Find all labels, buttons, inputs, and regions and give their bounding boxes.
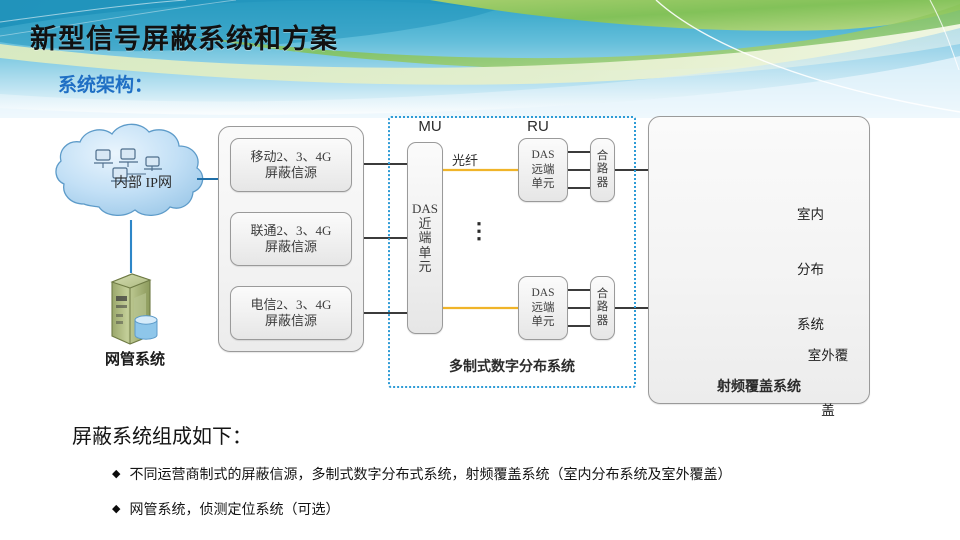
ru-remote-unit-1[interactable]: DAS 远端 单元 xyxy=(518,138,568,202)
mu-title: MU xyxy=(400,118,460,135)
ru1-line1: DAS xyxy=(531,148,554,162)
source-box-telecom[interactable]: 电信2、3、4G 屏蔽信源 xyxy=(230,286,352,340)
ru1-line3: 单元 xyxy=(532,177,555,191)
das-system-caption: 多制式数字分布系统 xyxy=(388,356,636,376)
mu-v2: 端 xyxy=(418,231,431,245)
summary-section: 屏蔽系统组成如下： ◆ 不同运营商制式的屏蔽信源，多制式数字分布式系统，射频覆盖… xyxy=(0,412,960,540)
internal-ip-cloud-shape xyxy=(56,124,203,215)
source-unicom-line2: 屏蔽信源 xyxy=(265,239,317,255)
nms-server-shape xyxy=(112,274,157,344)
source-telecom-line2: 屏蔽信源 xyxy=(265,313,317,329)
rf-coverage-caption: 射频覆盖系统 xyxy=(648,376,870,396)
combiner1-c1: 合 xyxy=(597,150,609,163)
ru2-line2: 远端 xyxy=(532,301,555,315)
outdoor-label-line1: 室外覆 xyxy=(797,347,859,365)
source-box-mobile[interactable]: 移动2、3、4G 屏蔽信源 xyxy=(230,138,352,192)
ru-title: RU xyxy=(508,118,568,135)
server-label: 网管系统 xyxy=(80,348,190,369)
summary-bullet-2-text: 网管系统，侦测定位系统（可选） xyxy=(129,499,339,519)
cloud-label: 内部 IP网 xyxy=(88,172,198,192)
indoor-label-line1: 室内 xyxy=(797,206,824,224)
mu-v4: 元 xyxy=(418,260,431,274)
ru2-line3: 单元 xyxy=(532,315,555,329)
summary-bullet-1-text: 不同运营商制式的屏蔽信源，多制式数字分布式系统，射频覆盖系统（室内分布系统及室外… xyxy=(129,464,731,484)
vertical-ellipsis: ⋮ xyxy=(468,220,490,242)
diamond-bullet-icon: ◆ xyxy=(112,504,120,515)
mu-near-end-unit[interactable]: DAS 近 端 单 元 xyxy=(407,142,443,334)
combiner1-c3: 器 xyxy=(597,177,609,190)
mu-v3: 单 xyxy=(418,246,431,260)
summary-bullet-2: ◆ 网管系统，侦测定位系统（可选） xyxy=(112,499,339,519)
summary-heading: 屏蔽系统组成如下： xyxy=(72,420,252,449)
section-subtitle: 系统架构： xyxy=(58,70,153,97)
header-decoration: 新型信号屏蔽系统和方案 系统架构： xyxy=(0,0,960,118)
combiner2-c2: 路 xyxy=(597,301,609,314)
ru2-line1: DAS xyxy=(531,286,554,300)
slide-root: 新型信号屏蔽系统和方案 系统架构： xyxy=(0,0,960,540)
indoor-label-line2: 分布 xyxy=(797,261,824,279)
source-box-unicom[interactable]: 联通2、3、4G 屏蔽信源 xyxy=(230,212,352,266)
ru1-line2: 远端 xyxy=(532,163,555,177)
diamond-bullet-icon: ◆ xyxy=(112,469,120,480)
source-unicom-line1: 联通2、3、4G xyxy=(251,223,332,239)
page-title: 新型信号屏蔽系统和方案 xyxy=(30,17,338,56)
architecture-diagram: 内部 IP网 网管系统 移动2、3、4G 屏蔽信源 联通2、3、4G 屏蔽信源 … xyxy=(0,108,960,413)
source-mobile-line1: 移动2、3、4G xyxy=(251,149,332,165)
combiner1-c2: 路 xyxy=(597,163,609,176)
source-mobile-line2: 屏蔽信源 xyxy=(265,165,317,181)
ru-remote-unit-2[interactable]: DAS 远端 单元 xyxy=(518,276,568,340)
combiner-1[interactable]: 合 路 器 xyxy=(590,138,615,202)
combiner2-c3: 器 xyxy=(597,315,609,328)
mu-das-text: DAS xyxy=(412,202,438,216)
source-telecom-line1: 电信2、3、4G xyxy=(251,297,332,313)
combiner-2[interactable]: 合 路 器 xyxy=(590,276,615,340)
summary-bullet-1: ◆ 不同运营商制式的屏蔽信源，多制式数字分布式系统，射频覆盖系统（室内分布系统及… xyxy=(112,464,731,484)
combiner2-c1: 合 xyxy=(597,288,609,301)
mu-v1: 近 xyxy=(418,217,431,231)
fiber-label: 光纤 xyxy=(452,150,478,169)
